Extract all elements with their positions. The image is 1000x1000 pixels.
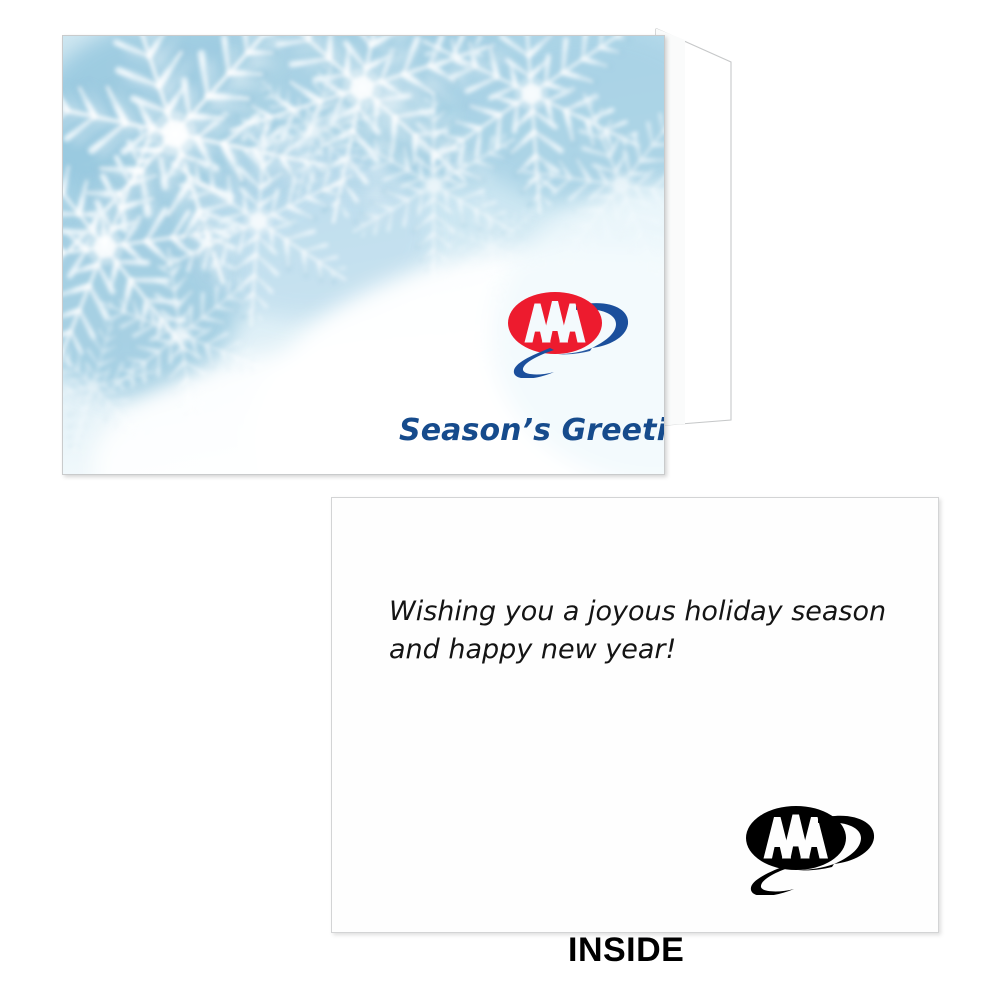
red-oval	[508, 292, 602, 354]
black-oval	[746, 806, 846, 870]
card-front-panel: Season’s Greetings	[62, 35, 665, 475]
inside-message: Wishing you a joyous holiday season and …	[389, 593, 894, 670]
snowflake-artwork	[63, 36, 664, 474]
folded-card-front-view: Season’s Greetings	[0, 0, 760, 500]
card-back-panel-fold	[655, 28, 740, 428]
inside-message-line-1: Wishing you a joyous holiday season	[389, 593, 894, 631]
card-inside-panel: Wishing you a joyous holiday season and …	[331, 497, 939, 933]
aaa-logo-color	[504, 286, 632, 378]
product-image-canvas: Season’s Greetings Wishing you a joyous …	[0, 0, 1000, 1000]
inside-caption-label: INSIDE	[568, 931, 684, 970]
aaa-logo-black	[742, 800, 880, 895]
seasons-greetings-text: Season’s Greetings	[399, 413, 665, 448]
inside-message-line-2: and happy new year!	[389, 631, 894, 669]
